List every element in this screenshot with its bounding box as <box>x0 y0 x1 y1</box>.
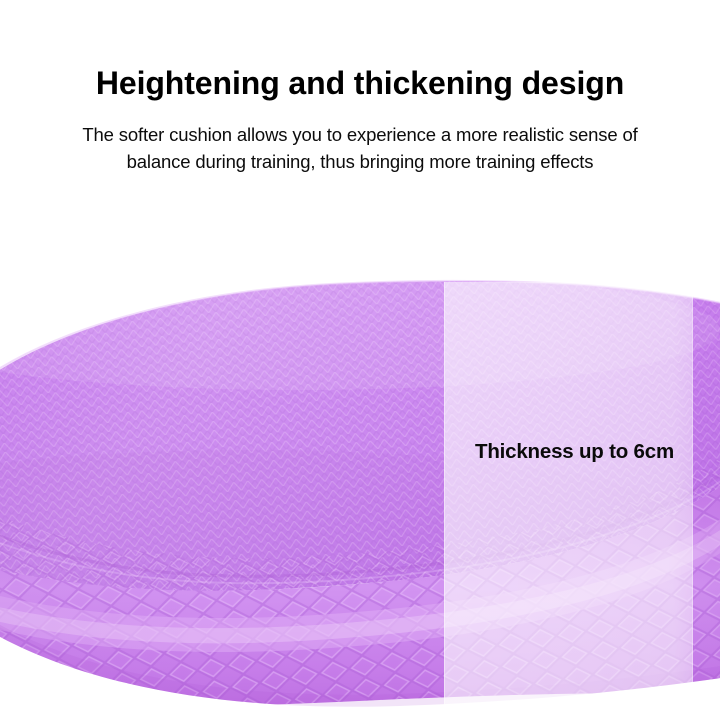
cushion-illustration <box>0 0 720 720</box>
product-feature-image: Thickness up to 6cm Heightening and thic… <box>0 0 720 720</box>
thickness-label: Thickness up to 6cm <box>475 440 674 464</box>
cushion-svg <box>0 0 720 720</box>
